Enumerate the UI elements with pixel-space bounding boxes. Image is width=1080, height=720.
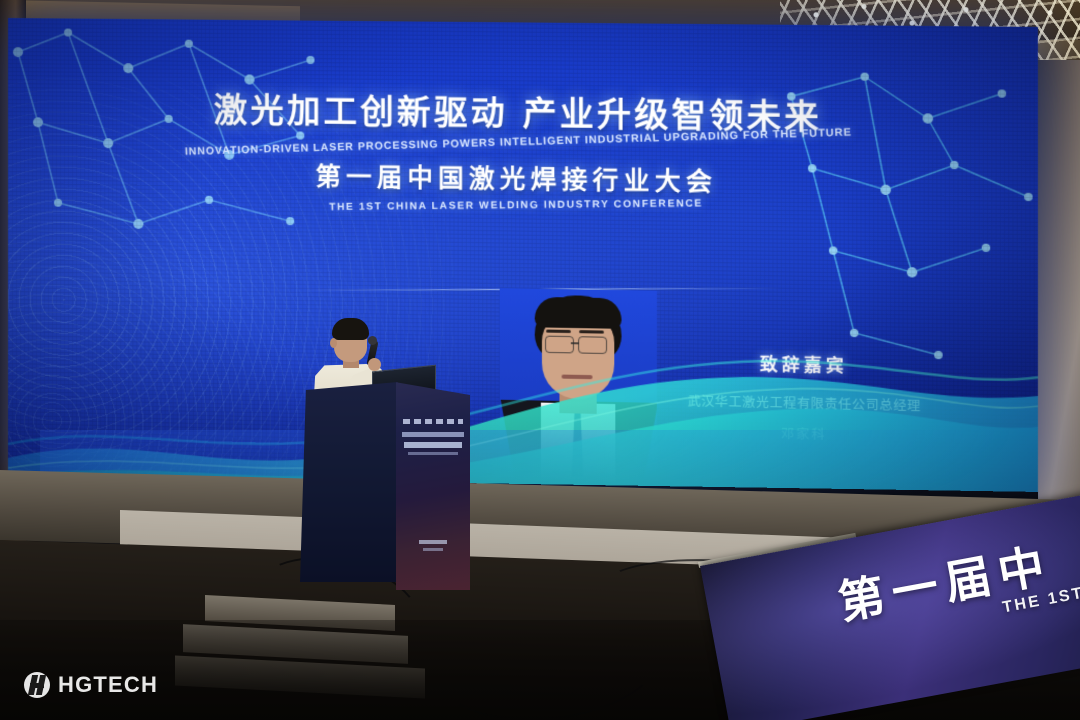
- microphone-head-icon: [368, 336, 377, 345]
- screen-vignette: [8, 18, 1038, 511]
- podium-title-line-3: [408, 452, 458, 455]
- podium-title-line-1: [402, 432, 464, 437]
- podium-title-line-2: [404, 442, 462, 448]
- hgtech-logo-icon: [24, 672, 50, 698]
- podium-sponsor-logo-row: [403, 419, 463, 424]
- hgtech-wordmark: HGTECH: [58, 672, 158, 698]
- podium-bottom-text: [423, 548, 443, 551]
- podium-side-panel: [300, 382, 398, 582]
- speaker-hand: [368, 358, 381, 371]
- led-screen-surface: 激光加工创新驱动 产业升级智领未来 INNOVATION-DRIVEN LASE…: [8, 18, 1038, 511]
- speaker-ear: [330, 338, 337, 348]
- podium-front-panel: [396, 378, 470, 590]
- hgtech-watermark: HGTECH: [24, 672, 158, 698]
- speaker-hair: [332, 318, 369, 340]
- conference-photo-scene: 激光加工创新驱动 产业升级智领未来 INNOVATION-DRIVEN LASE…: [0, 0, 1080, 720]
- hgtech-logo-bar: [30, 683, 44, 688]
- podium-bottom-logo: [419, 540, 447, 544]
- led-screen: 激光加工创新驱动 产业升级智领未来 INNOVATION-DRIVEN LASE…: [8, 18, 1038, 511]
- podium: [300, 382, 468, 590]
